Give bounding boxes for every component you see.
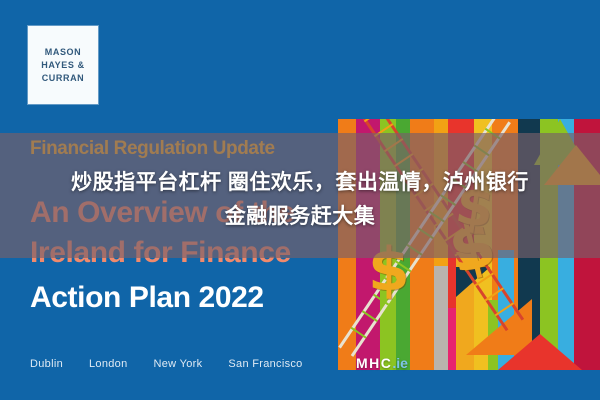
artwork-bar [434, 266, 448, 370]
city-dublin: Dublin [30, 358, 63, 370]
logo-line-2: HAYES & [41, 59, 84, 72]
mason-hayes-curran-logo: MASON HAYES & CURRAN [28, 26, 98, 104]
city-london: London [89, 358, 128, 370]
chinese-caption: 炒股指平台杠杆 圈住欢乐，套出温情，泸州银行 金融服务赶大集 [0, 166, 600, 234]
caption-line-2: 金融服务赶大集 [0, 200, 600, 234]
logo-line-3: CURRAN [42, 72, 85, 85]
mhc-brand-suffix: .ie [392, 355, 408, 371]
mhc-brand-text: MHC [356, 355, 392, 371]
city-san-francisco: San Francisco [228, 358, 302, 370]
city-new-york: New York [154, 358, 203, 370]
poster-title-line-3: Action Plan 2022 [30, 281, 264, 315]
caption-line-1: 炒股指平台杠杆 圈住欢乐，套出温情，泸州银行 [0, 166, 600, 200]
mhc-brand-mark: MHC.ie [356, 355, 408, 371]
poster-image: $ $ $ MASON HAYES & CURRAN Financial Reg… [0, 0, 600, 400]
office-city-list: Dublin London New York San Francisco [30, 358, 303, 370]
logo-line-1: MASON [45, 46, 82, 59]
artwork-triangle-red [498, 334, 582, 370]
